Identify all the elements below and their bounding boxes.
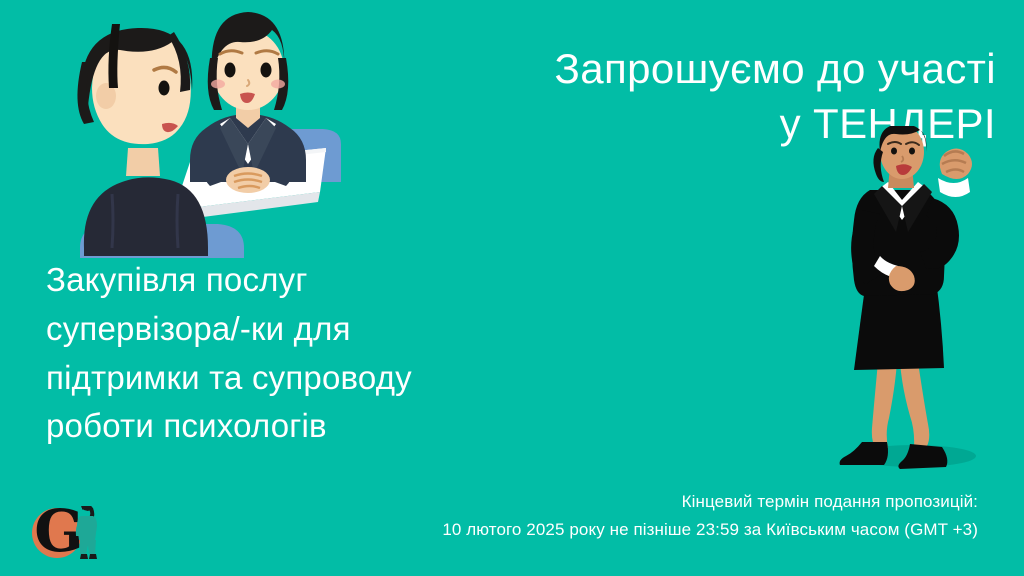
deadline-label: Кінцевий термін подання пропозицій: <box>218 488 978 516</box>
logo-woman-icon <box>70 506 104 562</box>
headline-line-1: Запрошуємо до участі <box>554 45 996 92</box>
deadline-value: 10 лютого 2025 року не пізніше 23:59 за … <box>218 516 978 544</box>
body-line-3: підтримки та супроводу <box>46 354 606 403</box>
body-copy: Закупівля послуг супервізора/-ки для під… <box>46 256 606 451</box>
body-line-2: супервізора/-ки для <box>46 305 606 354</box>
body-line-4: роботи психологів <box>46 402 606 451</box>
counselling-session-illustration <box>58 0 378 258</box>
deadline-block: Кінцевий термін подання пропозицій: 10 л… <box>218 488 978 544</box>
body-line-1: Закупівля послуг <box>46 256 606 305</box>
organisation-logo: G <box>26 502 112 566</box>
confident-businesswoman-illustration <box>818 126 1024 470</box>
tender-announcement-slide: Запрошуємо до участі у ТЕНДЕРІ <box>0 0 1024 576</box>
